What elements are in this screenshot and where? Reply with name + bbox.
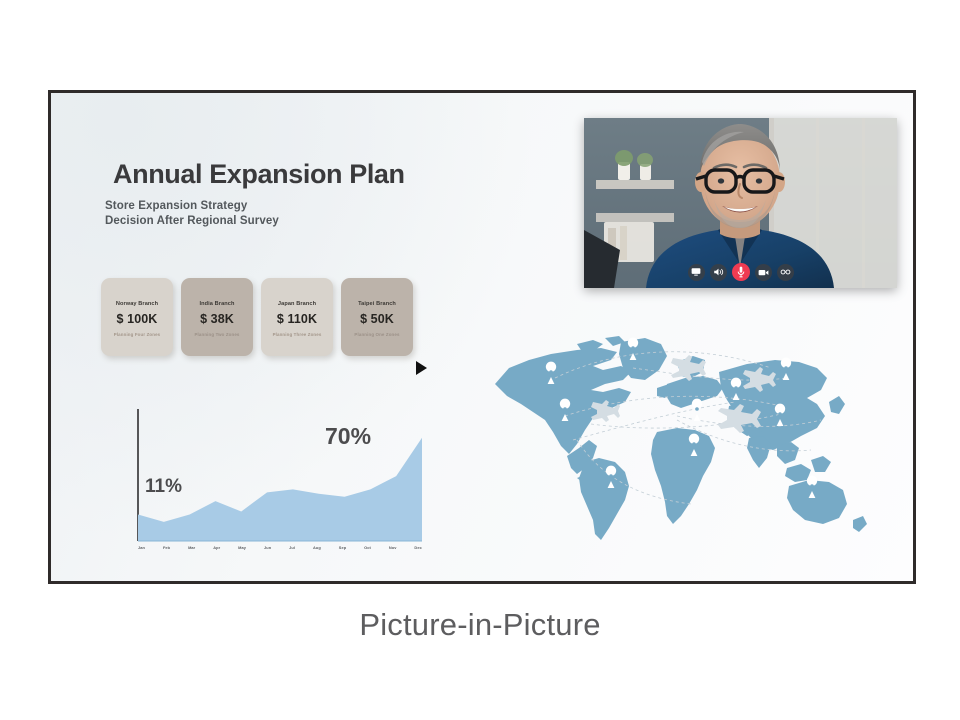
- chart-x-tick: Jun: [264, 545, 271, 550]
- slide-subtitle-line1: Store Expansion Strategy: [105, 200, 247, 212]
- chart-x-tick: Nov: [389, 545, 397, 550]
- branch-card-value: $ 50K: [360, 312, 394, 326]
- chart-x-tick: Dec: [414, 545, 421, 550]
- branch-card-title: Taipei Branch: [358, 301, 396, 307]
- play-arrow-icon[interactable]: [416, 361, 427, 375]
- slide-subtitle-line2: Decision After Regional Survey: [105, 215, 279, 227]
- page-title: Annual Expansion Plan: [113, 159, 405, 190]
- chart-annotation-start: 11%: [145, 476, 182, 498]
- chart-x-tick: Jul: [289, 545, 295, 550]
- speaker-icon[interactable]: [710, 264, 727, 281]
- chart-x-tick: Aug: [313, 545, 321, 550]
- camera-icon[interactable]: [755, 264, 772, 281]
- screenshot-root: Annual Expansion Plan Store Expansion St…: [0, 0, 960, 720]
- branch-card[interactable]: Norway Branch $ 100K Planning Four Zones: [101, 278, 173, 356]
- chart-x-tick-labels: JanFebMarAprMayJunJulAugSepOctNovDec: [138, 545, 422, 550]
- branch-card-title: Norway Branch: [116, 301, 158, 307]
- figure-caption: Picture-in-Picture: [0, 607, 960, 643]
- branch-card-note: Planning Four Zones: [114, 332, 161, 337]
- chart-x-tick: May: [238, 545, 246, 550]
- growth-area-chart: 11% 70% JanFebMarAprMayJunJulAugSepOctNo…: [91, 393, 431, 558]
- branch-card-value: $ 100K: [117, 312, 158, 326]
- chart-x-tick: Sep: [339, 545, 346, 550]
- world-map-svg: [481, 328, 901, 548]
- chart-x-tick: Feb: [163, 545, 170, 550]
- branch-card-value: $ 110K: [277, 312, 317, 326]
- branch-card[interactable]: Japan Branch $ 110K Planning Three Zones: [261, 278, 333, 356]
- branch-card-title: India Branch: [199, 301, 234, 307]
- chart-x-tick: Oct: [364, 545, 371, 550]
- microphone-icon[interactable]: [732, 263, 750, 281]
- world-map: [481, 328, 901, 548]
- branch-card-list: Norway Branch $ 100K Planning Four Zones…: [101, 278, 413, 356]
- screen-share-icon[interactable]: [688, 264, 705, 281]
- branch-card[interactable]: Taipei Branch $ 50K Planning One Zones: [341, 278, 413, 356]
- chart-plot: [91, 393, 431, 558]
- branch-card[interactable]: India Branch $ 38K Planning Two Zones: [181, 278, 253, 356]
- chart-annotation-end: 70%: [325, 423, 371, 450]
- branch-card-note: Planning One Zones: [354, 332, 399, 337]
- chart-x-tick: Mar: [188, 545, 195, 550]
- chart-x-tick: Apr: [213, 545, 220, 550]
- chart-x-tick: Jan: [138, 545, 145, 550]
- branch-card-title: Japan Branch: [278, 301, 316, 307]
- branch-card-note: Planning Two Zones: [194, 332, 239, 337]
- video-controls: [688, 263, 794, 281]
- end-call-icon[interactable]: [777, 264, 794, 281]
- slide-canvas: Annual Expansion Plan Store Expansion St…: [51, 93, 913, 581]
- branch-card-value: $ 38K: [200, 312, 234, 326]
- video-call-pip[interactable]: [584, 118, 897, 288]
- branch-card-note: Planning Three Zones: [273, 332, 322, 337]
- presentation-frame: Annual Expansion Plan Store Expansion St…: [48, 90, 916, 584]
